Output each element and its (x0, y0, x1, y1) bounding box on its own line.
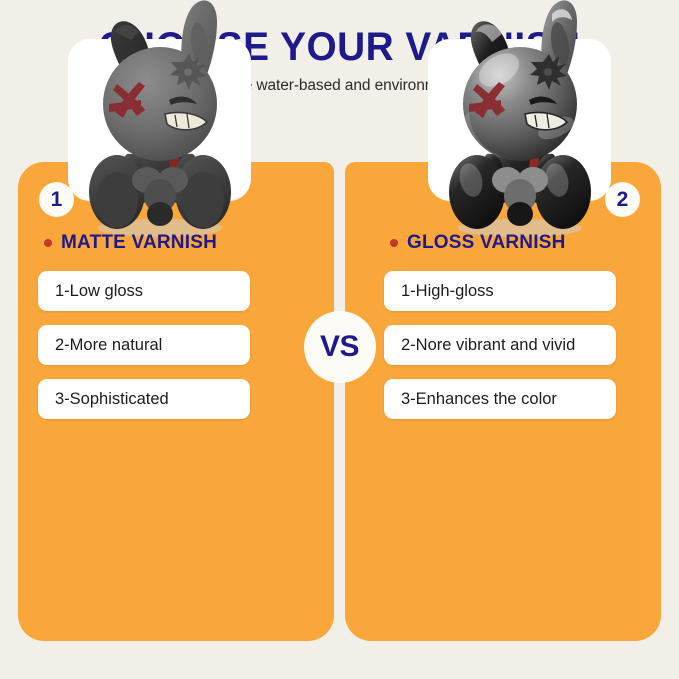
feature-item: 2-More natural (38, 325, 250, 365)
option-heading-matte: MATTE VARNISH (38, 232, 312, 254)
option-content-matte: MATTE VARNISH 1-Low gloss 2-More natural… (38, 232, 312, 433)
versus-badge: VS (304, 311, 376, 383)
feature-item: 1-Low gloss (38, 271, 250, 311)
option-content-gloss: GLOSS VARNISH 1-High-gloss 2-Nore vibran… (384, 232, 658, 433)
option-badge-1: 1 (39, 182, 74, 217)
option-heading-label: GLOSS VARNISH (407, 232, 566, 254)
option-badge-2: 2 (605, 182, 640, 217)
bullet-dot-icon (44, 239, 52, 247)
feature-item: 3-Enhances the color (384, 379, 616, 419)
bullet-dot-icon (390, 239, 398, 247)
feature-item: 1-High-gloss (384, 271, 616, 311)
image-card-matte (68, 39, 251, 201)
feature-item: 2-Nore vibrant and vivid (384, 325, 616, 365)
feature-item: 3-Sophisticated (38, 379, 250, 419)
panel-divider (338, 160, 343, 643)
option-heading-gloss: GLOSS VARNISH (384, 232, 658, 254)
option-heading-label: MATTE VARNISH (61, 232, 217, 254)
image-card-gloss (428, 39, 611, 201)
